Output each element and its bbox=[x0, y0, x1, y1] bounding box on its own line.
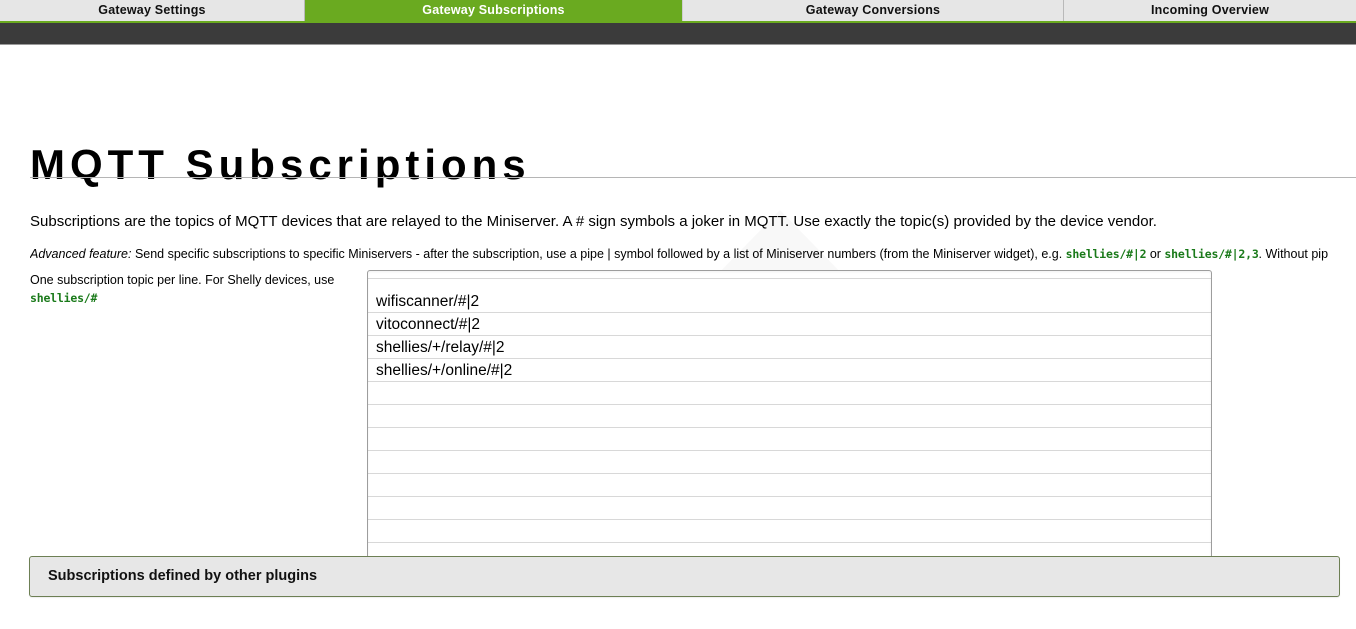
subscriptions-hint-label: One subscription topic per line. For She… bbox=[30, 272, 360, 307]
hint-text: One subscription topic per line. For She… bbox=[30, 273, 334, 287]
subscriptions-textarea-wrapper: wifiscanner/#|2 vitoconnect/#|2 shellies… bbox=[367, 270, 1212, 582]
subscriptions-textarea-value[interactable]: wifiscanner/#|2 vitoconnect/#|2 shellies… bbox=[368, 271, 1211, 382]
advanced-feature-between: or bbox=[1146, 247, 1164, 261]
tab-gateway-conversions[interactable]: Gateway Conversions bbox=[683, 0, 1064, 21]
dark-navigation-bar bbox=[0, 23, 1356, 45]
tab-gateway-subscriptions[interactable]: Gateway Subscriptions bbox=[305, 0, 683, 21]
advanced-feature-body-2: . Without pip bbox=[1259, 247, 1328, 261]
advanced-feature-body-1: Send specific subscriptions to specific … bbox=[131, 247, 1065, 261]
main-tab-bar: Gateway Settings Gateway Subscriptions G… bbox=[0, 0, 1356, 23]
intro-paragraph: Subscriptions are the topics of MQTT dev… bbox=[30, 212, 1350, 231]
other-plugins-panel-title: Subscriptions defined by other plugins bbox=[48, 568, 317, 584]
advanced-feature-label: Advanced feature: bbox=[30, 247, 131, 261]
code-example-1: shellies/#|2 bbox=[1066, 247, 1147, 261]
subscriptions-textarea[interactable]: wifiscanner/#|2 vitoconnect/#|2 shellies… bbox=[367, 270, 1212, 582]
tab-gateway-settings[interactable]: Gateway Settings bbox=[0, 0, 305, 21]
advanced-feature-paragraph: Advanced feature: Send specific subscrip… bbox=[30, 246, 1356, 262]
page-title: MQTT Subscriptions bbox=[30, 141, 531, 189]
tab-incoming-overview[interactable]: Incoming Overview bbox=[1064, 0, 1356, 21]
other-plugins-panel[interactable]: Subscriptions defined by other plugins bbox=[29, 556, 1340, 597]
hint-code-shellies: shellies/# bbox=[30, 290, 360, 307]
code-example-2: shellies/#|2,3 bbox=[1164, 247, 1258, 261]
title-divider bbox=[30, 177, 1356, 178]
